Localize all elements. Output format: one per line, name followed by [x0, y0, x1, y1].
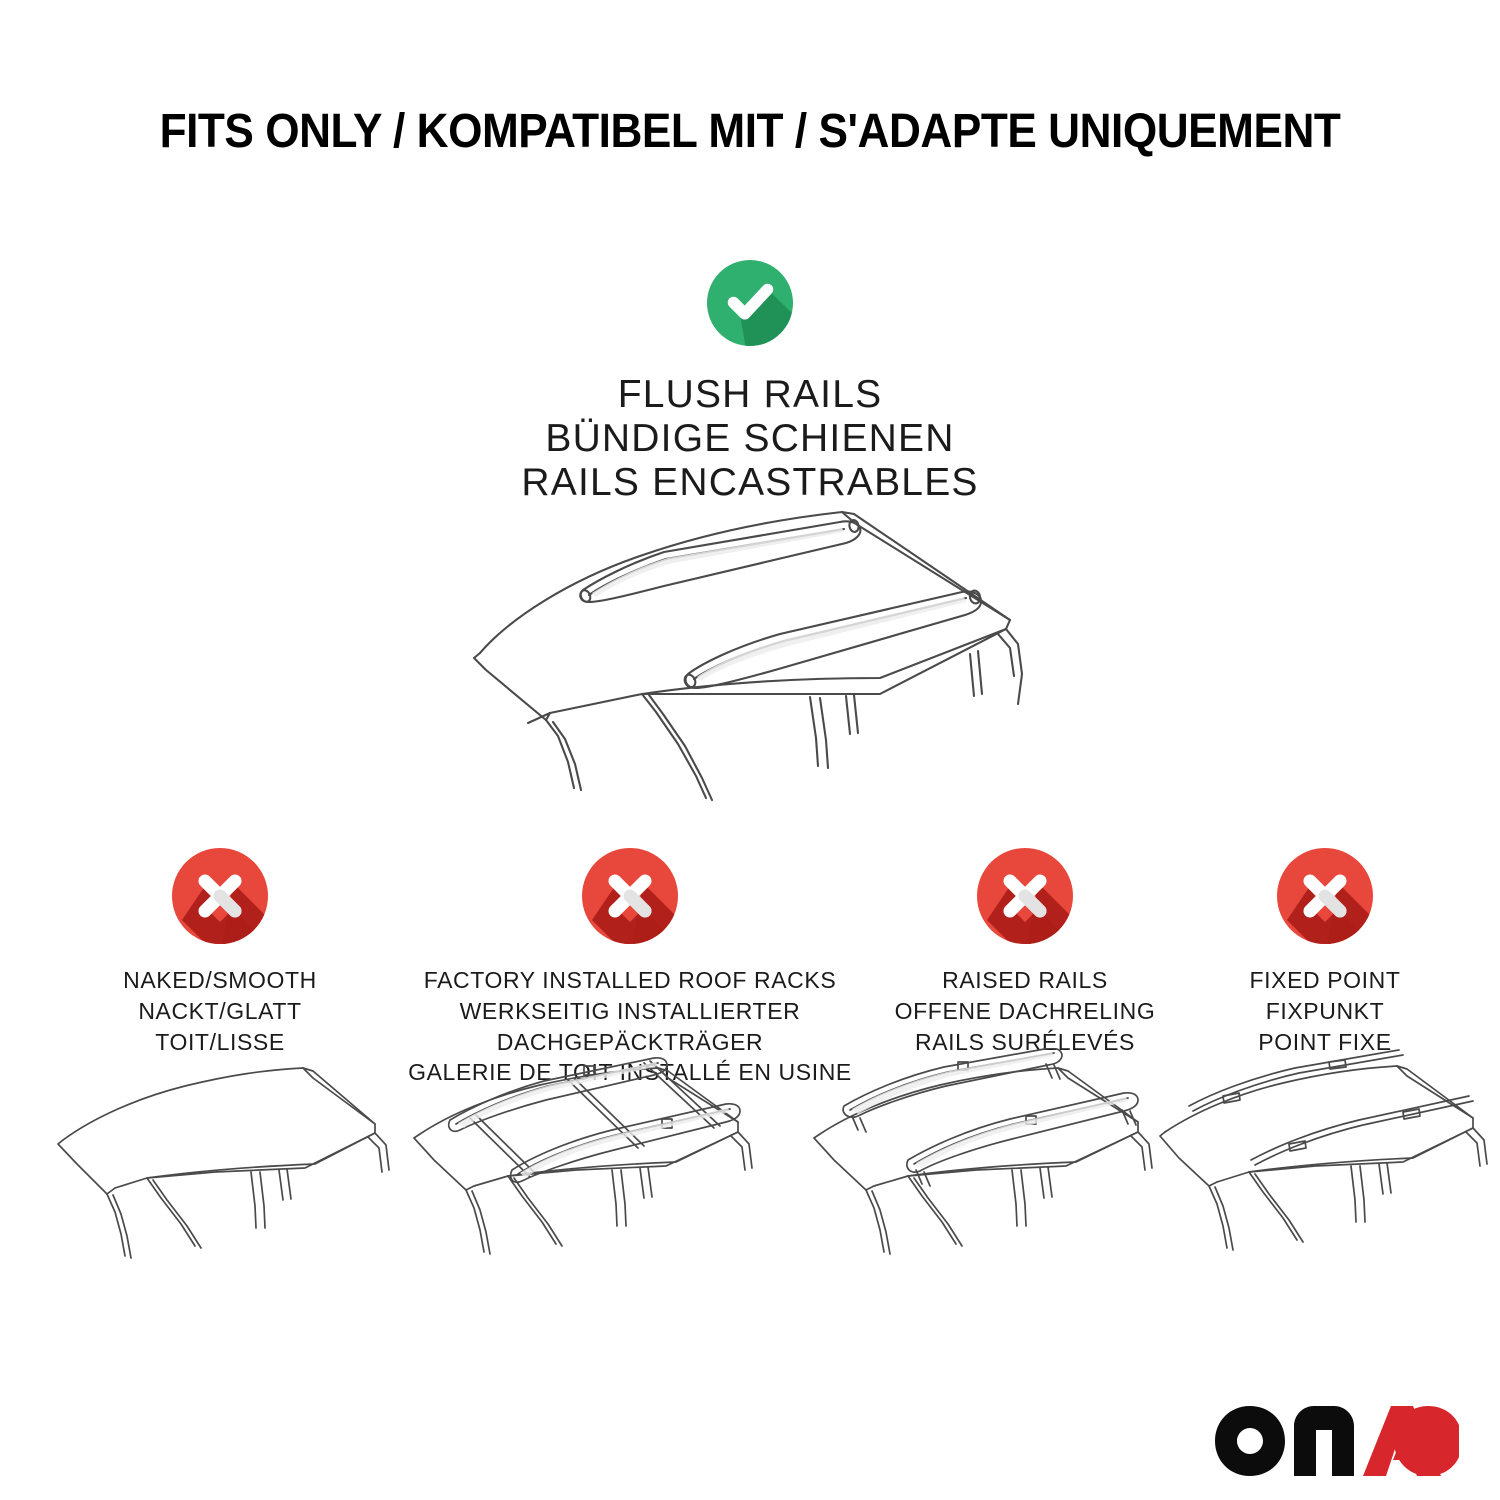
- page-title: FITS ONLY / KOMPATIBEL MIT / S'ADAPTE UN…: [60, 104, 1440, 159]
- label-de: NACKT/GLATT: [123, 996, 317, 1027]
- label-de: OFFENE DACHRELING: [895, 996, 1156, 1027]
- omac-logo: [1214, 1404, 1460, 1478]
- label-de: WERKSEITIG INSTALLIERTER: [408, 996, 852, 1027]
- x-circle-icon: [582, 848, 678, 949]
- approved-labels: FLUSH RAILS BÜNDIGE SCHIENEN RAILS ENCAS…: [521, 373, 978, 505]
- rejected-labels-raised-rails: RAISED RAILS OFFENE DACHRELING RAILS SUR…: [895, 965, 1156, 1057]
- approved-label-de: BÜNDIGE SCHIENEN: [521, 417, 978, 461]
- car-roof-factory-roof-racks-illustration: [408, 1048, 808, 1288]
- x-circle-icon: [172, 848, 268, 949]
- label-de: FIXPUNKT: [1249, 996, 1400, 1027]
- label-en: NAKED/SMOOTH: [123, 965, 317, 996]
- rejected-column-raised-rails: RAISED RAILS OFFENE DACHRELING RAILS SUR…: [860, 848, 1190, 1057]
- check-circle-icon: [707, 260, 793, 351]
- rejected-labels-fixed-point: FIXED POINT FIXPUNKT POINT FIXE: [1249, 965, 1400, 1057]
- rejected-column-naked-smooth: NAKED/SMOOTH NACKT/GLATT TOIT/LISSE: [40, 848, 400, 1057]
- fitment-compatibility-infographic: FITS ONLY / KOMPATIBEL MIT / S'ADAPTE UN…: [0, 0, 1500, 1500]
- rejected-labels-naked-smooth: NAKED/SMOOTH NACKT/GLATT TOIT/LISSE: [123, 965, 317, 1057]
- approved-fitment-block: FLUSH RAILS BÜNDIGE SCHIENEN RAILS ENCAS…: [0, 260, 1500, 505]
- car-roof-raised-rails-illustration: [808, 1048, 1208, 1288]
- rejected-column-fixed-point: FIXED POINT FIXPUNKT POINT FIXE: [1190, 848, 1460, 1057]
- label-en: FIXED POINT: [1249, 965, 1400, 996]
- car-roof-fixed-point-illustration: [1155, 1048, 1500, 1288]
- label-en: FACTORY INSTALLED ROOF RACKS: [408, 965, 852, 996]
- approved-label-en: FLUSH RAILS: [521, 373, 978, 417]
- x-circle-icon: [1277, 848, 1373, 949]
- car-roof-flush-rails-illustration: [450, 498, 1050, 808]
- x-circle-icon: [977, 848, 1073, 949]
- car-roof-naked-smooth-illustration: [55, 1048, 430, 1288]
- label-en: RAISED RAILS: [895, 965, 1156, 996]
